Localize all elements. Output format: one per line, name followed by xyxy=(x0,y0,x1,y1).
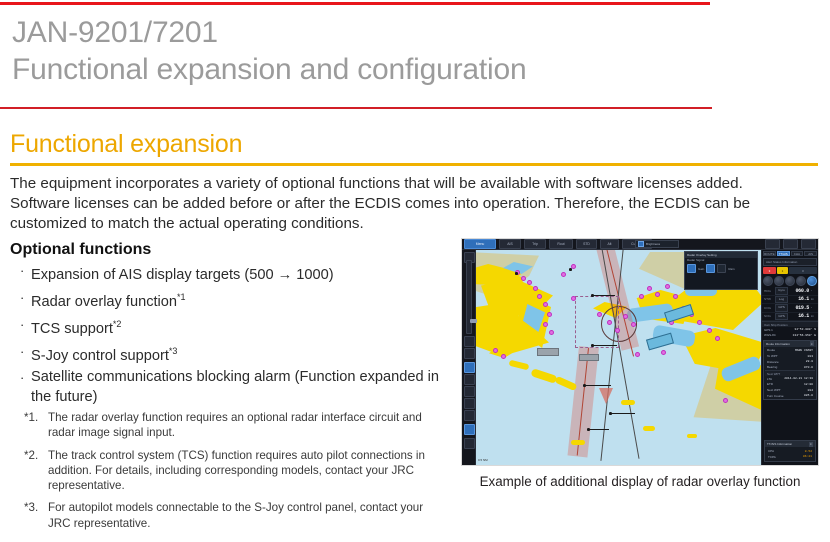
tab-cha[interactable]: CHA xyxy=(791,251,804,256)
ecdis-brightness-widget[interactable]: Brightness xyxy=(635,240,679,248)
gps-longitude: 134°56.950' E xyxy=(793,334,816,337)
alert-count-row[interactable]: 3 1 0 xyxy=(763,267,817,274)
section-heading-underline xyxy=(10,163,818,166)
ttais-row-tcpa: TCPA 06:21 xyxy=(766,454,814,460)
bullet-glyph: · xyxy=(20,288,24,308)
ecdis-radar-overlay-popup[interactable]: Radar Overlay Setting Radar Signal Gain … xyxy=(684,251,758,290)
route-information-window[interactable]: Route Information × Route MARU COAST To … xyxy=(763,340,817,401)
cog-value: 019.5 xyxy=(790,305,809,311)
bearing-value: 070.0 xyxy=(804,366,813,369)
intro-line-3: customized to match the actual operating… xyxy=(10,214,810,234)
ecdis-display: Menu AIS Trip Rout STD Alt Custom Bright… xyxy=(461,238,819,466)
pencil-icon[interactable] xyxy=(464,410,475,421)
footnote-ref: *3 xyxy=(169,346,178,356)
footnote-ref: *2 xyxy=(113,319,122,329)
list-item-label: S-Joy control support xyxy=(31,347,169,363)
list-item-label: Satellite communications blocking alarm … xyxy=(31,369,439,405)
footnote-text: The track control system (TCS) function … xyxy=(48,449,425,493)
cog-unit: ° xyxy=(811,306,816,310)
own-ship-symbol xyxy=(599,388,613,404)
page-title-line1: JAN-9201/7201 xyxy=(12,16,772,50)
layers-icon[interactable] xyxy=(464,348,475,359)
bearing-label: Bearing xyxy=(767,365,777,369)
position-row-datum: WGS-84 134°56.950' E xyxy=(762,333,818,339)
nextwpt-label: Next WPT xyxy=(767,388,781,392)
footnote-row: *2. The track control system (TCS) funct… xyxy=(24,448,444,494)
camera-icon[interactable] xyxy=(765,239,780,249)
hdg-value: 060.0 xyxy=(790,288,809,294)
list-item: · TCS support*2 xyxy=(18,315,448,339)
section-heading: Functional expansion xyxy=(10,130,242,159)
footnote-text: The radar overlay function requires an o… xyxy=(48,411,422,439)
sog-source[interactable]: GPS xyxy=(775,313,788,321)
turncourse-label: Turn Course xyxy=(767,394,784,398)
footnote-ref: *1 xyxy=(177,292,186,302)
gps-label: GPS 1 xyxy=(764,328,773,332)
cog-label: COG xyxy=(764,306,773,310)
lta-label: LTA xyxy=(767,377,772,381)
route-tool-icon[interactable] xyxy=(464,374,475,385)
target-icon[interactable] xyxy=(763,276,773,286)
ecdis-chip-ais[interactable]: AIS xyxy=(499,239,521,249)
towpt-value: 013 xyxy=(808,355,813,358)
ecdis-chip-alt[interactable]: Alt xyxy=(600,239,619,249)
tcpa-label: TCPA xyxy=(768,455,776,459)
page-title: JAN-9201/7201 Functional expansion and c… xyxy=(12,16,772,86)
right-panel-icon-row[interactable] xyxy=(763,275,817,286)
user-icon[interactable] xyxy=(783,239,798,249)
ecdis-chip-rout[interactable]: Rout xyxy=(549,239,573,249)
brightness-label: Brightness xyxy=(646,242,660,246)
range-slider[interactable] xyxy=(466,260,472,334)
ecdis-menu-button[interactable]: Menu xyxy=(464,239,496,249)
cog-source[interactable]: GPS xyxy=(775,304,788,312)
data-row-sog: SOG GPS 16.1 kn xyxy=(762,313,818,322)
list-item: · Expansion of AIS display targets (500 … xyxy=(18,261,448,285)
stw-unit: kn xyxy=(811,297,816,301)
data-row-stw: STW Log 16.1 kn xyxy=(762,296,818,305)
caution-count-badge: 0 xyxy=(789,267,817,274)
distance-value: 28.0 xyxy=(806,360,813,363)
alert-status-bar[interactable]: Alert Status Information xyxy=(763,258,817,266)
intro-line-1: The equipment incorporates a variety of … xyxy=(10,174,810,194)
rain-label: Rain xyxy=(728,267,734,271)
ruler-icon[interactable] xyxy=(464,398,475,409)
vector-icon[interactable] xyxy=(774,276,784,286)
ecdis-screenshot-figure: Menu AIS Trip Rout STD Alt Custom Bright… xyxy=(461,238,819,466)
rain-toggle-button[interactable] xyxy=(717,264,726,273)
etd-label: ETD xyxy=(767,382,773,386)
route-source-label: Route xyxy=(767,348,775,352)
turncourse-value: 085.0 xyxy=(804,394,813,397)
pan-tool-icon[interactable] xyxy=(464,362,475,373)
sea-toggle-button[interactable] xyxy=(706,264,715,273)
filter-icon[interactable] xyxy=(796,276,806,286)
footnote-row: *3. For autopilot models connectable to … xyxy=(24,500,444,531)
sog-value: 16.1 xyxy=(790,313,809,319)
route-window-title: Route Information xyxy=(766,342,790,346)
mark-tool-icon[interactable] xyxy=(464,424,475,435)
data-row-cog: COG GPS 019.5 ° xyxy=(762,304,818,313)
close-icon[interactable]: × xyxy=(810,341,815,346)
close-icon[interactable]: × xyxy=(809,442,814,447)
footnote-mark: *3. xyxy=(24,500,46,515)
tcpa-value: 06:21 xyxy=(803,455,812,458)
route-source-value: MARU COAST xyxy=(795,349,813,352)
page-root: JAN-9201/7201 Functional expansion and c… xyxy=(0,0,830,542)
warning-count-badge: 1 xyxy=(777,267,788,274)
page-title-line2: Functional expansion and configuration xyxy=(12,53,772,87)
bullet-glyph: · xyxy=(20,315,24,335)
right-panel-tabs[interactable]: ROUTE TT/AIS CHA AIS xyxy=(762,250,818,257)
ecdis-chip-std[interactable]: STD xyxy=(576,239,597,249)
stw-label: STW xyxy=(764,297,773,301)
list-item: · Satellite communications blocking alar… xyxy=(18,368,448,407)
ecdis-chip-trip[interactable]: Trip xyxy=(524,239,546,249)
title-underline-rule xyxy=(0,107,712,109)
hdg-label: HDG xyxy=(764,289,773,293)
settings-icon[interactable] xyxy=(464,438,475,449)
top-red-rule xyxy=(0,2,710,5)
intro-line-2: Software licenses can be added before or… xyxy=(10,194,810,214)
ecdis-left-toolbar[interactable] xyxy=(462,250,476,465)
alarm-count-badge: 3 xyxy=(763,267,776,274)
chart-scale-label: 0.5 NM xyxy=(478,458,488,462)
list-item: · Radar overlay function*1 xyxy=(18,288,448,312)
wave-icon[interactable] xyxy=(807,276,817,286)
lta-value: 2014-02-21 12:30 xyxy=(784,377,813,380)
list-item-label: TCS support xyxy=(31,321,113,337)
brightness-icon xyxy=(638,241,644,247)
list-item: · S-Joy control support*3 xyxy=(18,342,448,366)
cpa-value: 0.52 xyxy=(805,450,812,453)
footnote-mark: *1. xyxy=(24,410,46,425)
nextwpt-value: 014 xyxy=(808,389,813,392)
footnote-mark: *2. xyxy=(24,448,46,463)
eraser-icon[interactable] xyxy=(464,386,475,397)
hdg-unit: ° xyxy=(811,289,816,293)
route-row-turncourse: Turn Course 085.0 xyxy=(765,393,815,399)
ttais-window-body: CPA 0.52 TCPA 06:21 xyxy=(765,447,815,460)
intro-paragraph: The equipment incorporates a variety of … xyxy=(10,174,810,234)
trail-icon[interactable] xyxy=(785,276,795,286)
list-item-label: Radar overlay function xyxy=(31,294,177,310)
datum-label: WGS-84 xyxy=(764,333,776,337)
sog-label: SOG xyxy=(764,314,773,318)
stw-source[interactable]: Log xyxy=(775,296,788,304)
sog-unit: kn xyxy=(811,314,816,318)
figure-caption: Example of additional display of radar o… xyxy=(461,474,819,489)
ecdis-right-panel[interactable]: ROUTE TT/AIS CHA AIS Alert Status Inform… xyxy=(761,250,818,465)
gain-toggle-button[interactable] xyxy=(687,264,696,273)
popup-body[interactable]: Gain Rain xyxy=(685,262,757,275)
zoom-out-icon[interactable] xyxy=(464,336,475,347)
tab-route[interactable]: ROUTE xyxy=(763,251,776,256)
data-row-hdg: HDG Gyro 060.0 ° xyxy=(762,287,818,296)
optional-functions-list: · Expansion of AIS display targets (500 … xyxy=(18,261,448,410)
tab-ais[interactable]: AIS xyxy=(804,251,817,256)
bullet-glyph: · xyxy=(20,261,24,281)
towpt-label: To WPT xyxy=(767,354,778,358)
etd-value: 12:00 xyxy=(804,383,813,386)
range-slider-knob[interactable] xyxy=(470,319,477,323)
bullet-glyph: · xyxy=(20,342,24,362)
list-item-label: Expansion of AIS display targets (500 → … xyxy=(31,267,334,283)
own-ship-position-label: Own Ship Position xyxy=(764,323,788,327)
print-icon[interactable] xyxy=(801,239,816,249)
distance-label: Distance xyxy=(767,360,779,364)
footnotes-block: *1. The radar overlay function requires … xyxy=(24,410,444,538)
gain-label: Gain xyxy=(698,267,704,271)
tab-tt-ais[interactable]: TT/AIS xyxy=(777,251,790,256)
hdg-source[interactable]: Gyro xyxy=(775,287,788,295)
bullet-glyph: · xyxy=(20,368,24,388)
popup-title: Radar Overlay Setting xyxy=(687,253,717,257)
tt-ais-information-window[interactable]: TT/AIS Information × CPA 0.52 TCPA 06:21 xyxy=(764,440,816,461)
gps-latitude: 34°53.000' N xyxy=(794,328,816,331)
footnote-text: For autopilot models connectable to the … xyxy=(48,501,423,529)
footnote-row: *1. The radar overlay function requires … xyxy=(24,410,444,441)
ttais-window-title: TT/AIS Information xyxy=(767,442,792,446)
stw-value: 16.1 xyxy=(790,296,809,302)
cpa-label: CPA xyxy=(768,449,774,453)
route-window-body: Route MARU COAST To WPT 013 Distance 28.… xyxy=(764,347,816,400)
optional-functions-title: Optional functions xyxy=(10,241,151,259)
